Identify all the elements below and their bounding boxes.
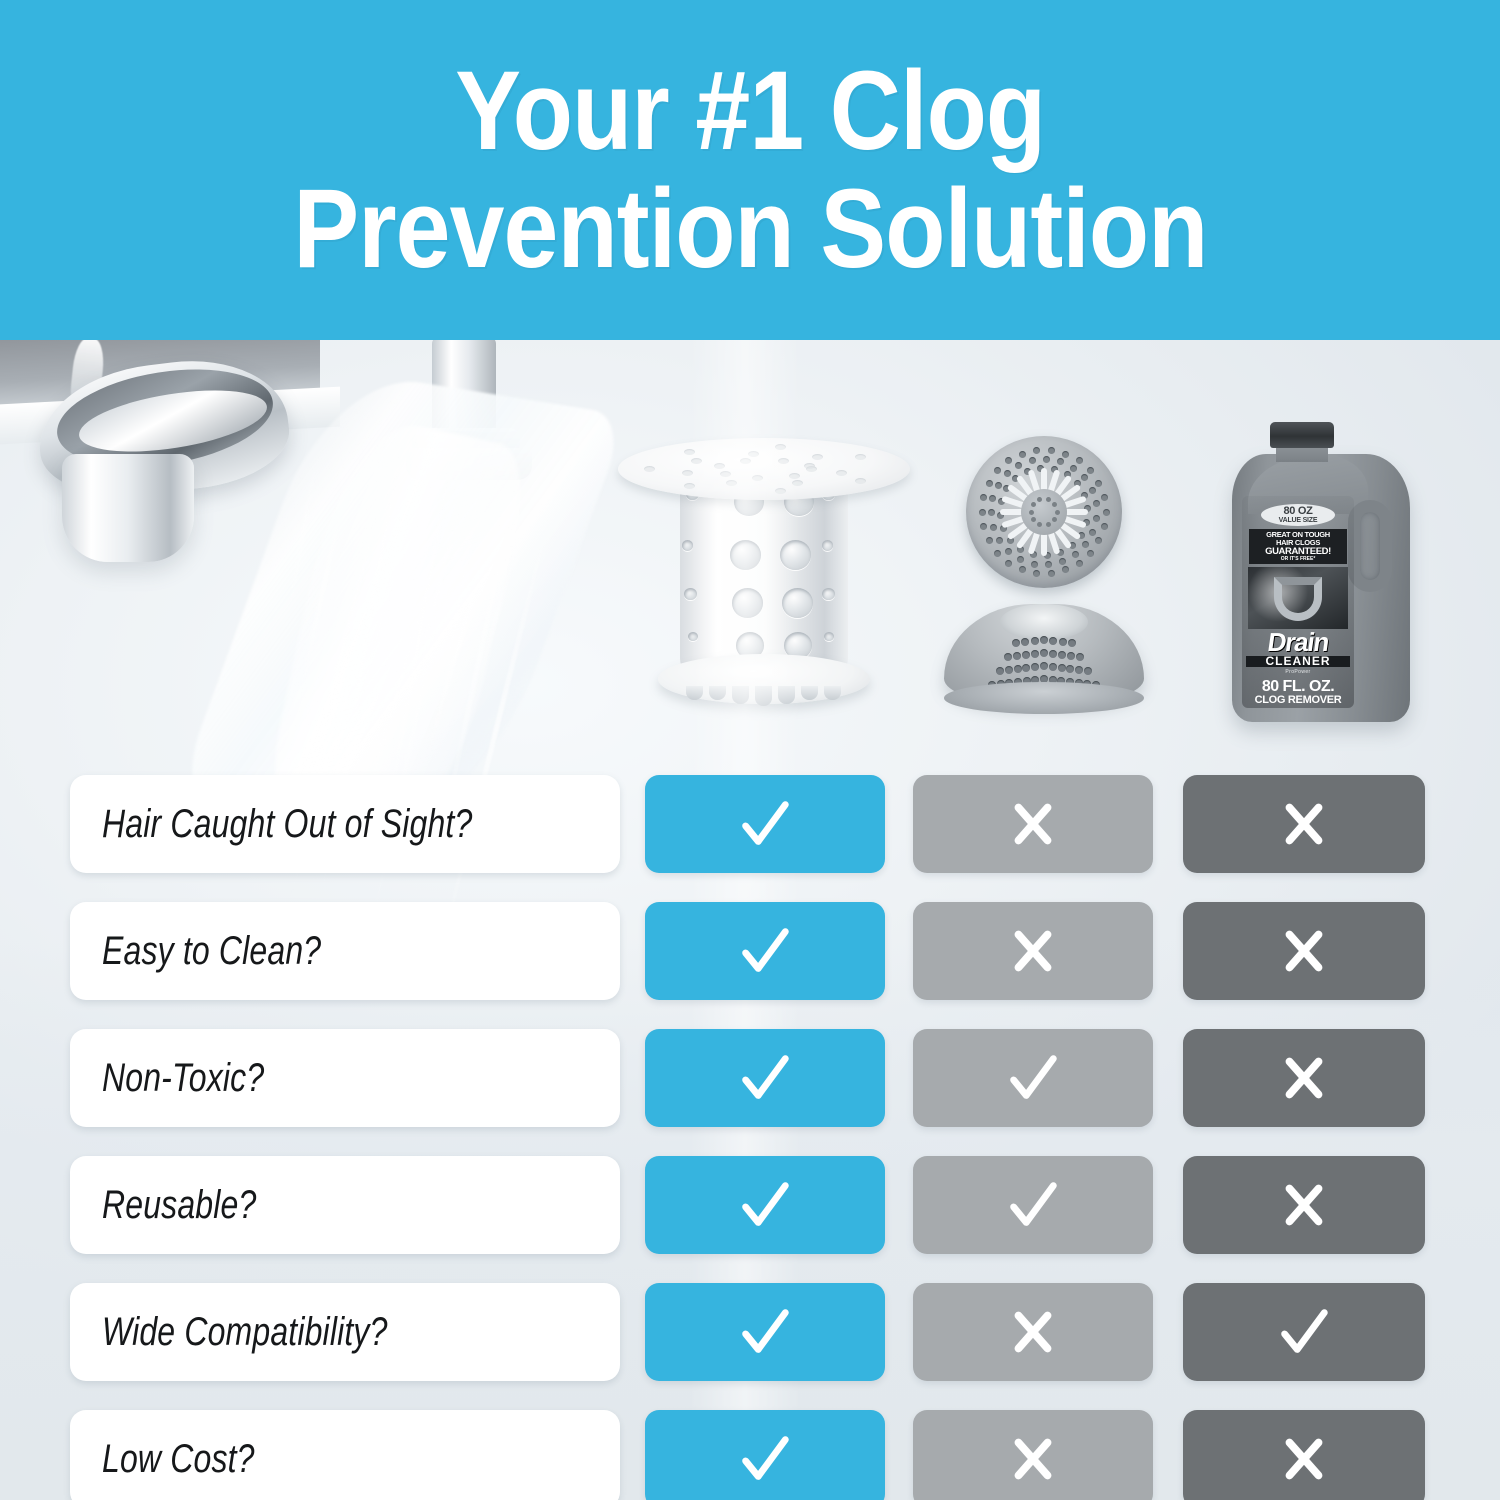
comparison-cell-ours-check-icon xyxy=(645,902,885,1000)
bottle-claim-line4: OR IT'S FREE* xyxy=(1249,557,1347,562)
bottle-brand-block: Drain CLEANER xyxy=(1246,631,1350,667)
feature-label-card: Reusable? xyxy=(70,1156,620,1254)
comparison-cell-competitor_light-cross-icon xyxy=(913,902,1153,1000)
feature-label-text: Low Cost? xyxy=(102,1437,255,1482)
feature-label-card: Hair Caught Out of Sight? xyxy=(70,775,620,873)
bottle-value-size-text: VALUE SIZE xyxy=(1261,517,1335,524)
bottle-handle xyxy=(1348,500,1392,592)
product-white-drain-protector xyxy=(614,432,914,732)
comparison-cell-competitor_light-cross-icon xyxy=(913,1283,1153,1381)
flat-strainer-hub xyxy=(1021,489,1067,535)
comparison-cell-competitor_light-cross-icon xyxy=(913,775,1153,873)
comparison-cell-ours-check-icon xyxy=(645,1410,885,1500)
bottle-brand-sub: ProPower xyxy=(1285,669,1310,675)
bottle-volume-block: 80 FL. OZ. CLOG REMOVER xyxy=(1255,679,1342,706)
comparison-cell-competitor_dark-cross-icon xyxy=(1183,775,1425,873)
comparison-cell-competitor_light-check-icon xyxy=(913,1029,1153,1127)
drain-protector-holes xyxy=(680,470,848,678)
table-row: Reusable? xyxy=(0,1156,1500,1254)
table-row: Hair Caught Out of Sight? xyxy=(0,775,1500,873)
product-gray-dome-strainer xyxy=(944,604,1144,722)
comparison-cell-competitor_dark-cross-icon xyxy=(1183,902,1425,1000)
comparison-cell-competitor_dark-check-icon xyxy=(1183,1283,1425,1381)
comparison-cell-ours-check-icon xyxy=(645,1283,885,1381)
comparison-cell-competitor_light-check-icon xyxy=(913,1156,1153,1254)
drain-protector-feet xyxy=(686,686,842,712)
comparison-cell-ours-check-icon xyxy=(645,1156,885,1254)
dome-strainer-rim xyxy=(944,682,1144,714)
product-gray-flat-strainer xyxy=(966,436,1122,588)
comparison-cell-competitor_dark-cross-icon xyxy=(1183,1156,1425,1254)
comparison-cell-competitor_light-cross-icon xyxy=(913,1410,1153,1500)
bottle-cap xyxy=(1270,422,1334,448)
feature-label-text: Non-Toxic? xyxy=(102,1056,264,1101)
bottle-brand-line1: Drain xyxy=(1244,631,1351,655)
headline-line-2: Prevention Solution xyxy=(293,173,1207,285)
feature-label-text: Hair Caught Out of Sight? xyxy=(102,802,472,847)
feature-label-card: Easy to Clean? xyxy=(70,902,620,1000)
comparison-cell-ours-check-icon xyxy=(645,775,885,873)
bottle-pipe-photo xyxy=(1248,567,1348,629)
bottle-function: CLOG REMOVER xyxy=(1255,695,1342,706)
comparison-cell-ours-check-icon xyxy=(645,1029,885,1127)
bottle-label: 80 OZ VALUE SIZE GREAT ON TOUGH HAIR CLO… xyxy=(1242,496,1354,708)
feature-label-text: Reusable? xyxy=(102,1183,256,1228)
p-trap-illustration xyxy=(1274,577,1322,621)
feature-label-card: Low Cost? xyxy=(70,1410,620,1500)
table-row: Low Cost? xyxy=(0,1410,1500,1500)
comparison-cell-competitor_dark-cross-icon xyxy=(1183,1410,1425,1500)
table-row: Wide Compatibility? xyxy=(0,1283,1500,1381)
feature-label-text: Easy to Clean? xyxy=(102,929,321,974)
comparison-cell-competitor_dark-cross-icon xyxy=(1183,1029,1425,1127)
bottle-claim-block: GREAT ON TOUGH HAIR CLOGS GUARANTEED! OR… xyxy=(1249,529,1347,564)
header-banner: Your #1 Clog Prevention Solution xyxy=(0,0,1500,340)
headline-line-1: Your #1 Clog xyxy=(455,55,1045,167)
product-drain-cleaner-bottle: 80 OZ VALUE SIZE GREAT ON TOUGH HAIR CLO… xyxy=(1224,422,1420,726)
bottle-brand-line2: CLEANER xyxy=(1246,656,1350,667)
bottle-volume: 80 FL. OZ. xyxy=(1255,679,1342,695)
faucet-stem xyxy=(62,454,194,562)
table-row: Non-Toxic? xyxy=(0,1029,1500,1127)
product-comparison-infographic: 80 OZ VALUE SIZE GREAT ON TOUGH HAIR CLO… xyxy=(0,0,1500,1500)
feature-label-text: Wide Compatibility? xyxy=(102,1310,388,1355)
feature-label-card: Non-Toxic? xyxy=(70,1029,620,1127)
drain-protector-top-dimples xyxy=(618,438,910,500)
bottle-value-size-badge: 80 OZ VALUE SIZE xyxy=(1261,504,1335,526)
table-row: Easy to Clean? xyxy=(0,902,1500,1000)
feature-label-card: Wide Compatibility? xyxy=(70,1283,620,1381)
bottle-value-size-amount: 80 OZ xyxy=(1261,506,1335,517)
